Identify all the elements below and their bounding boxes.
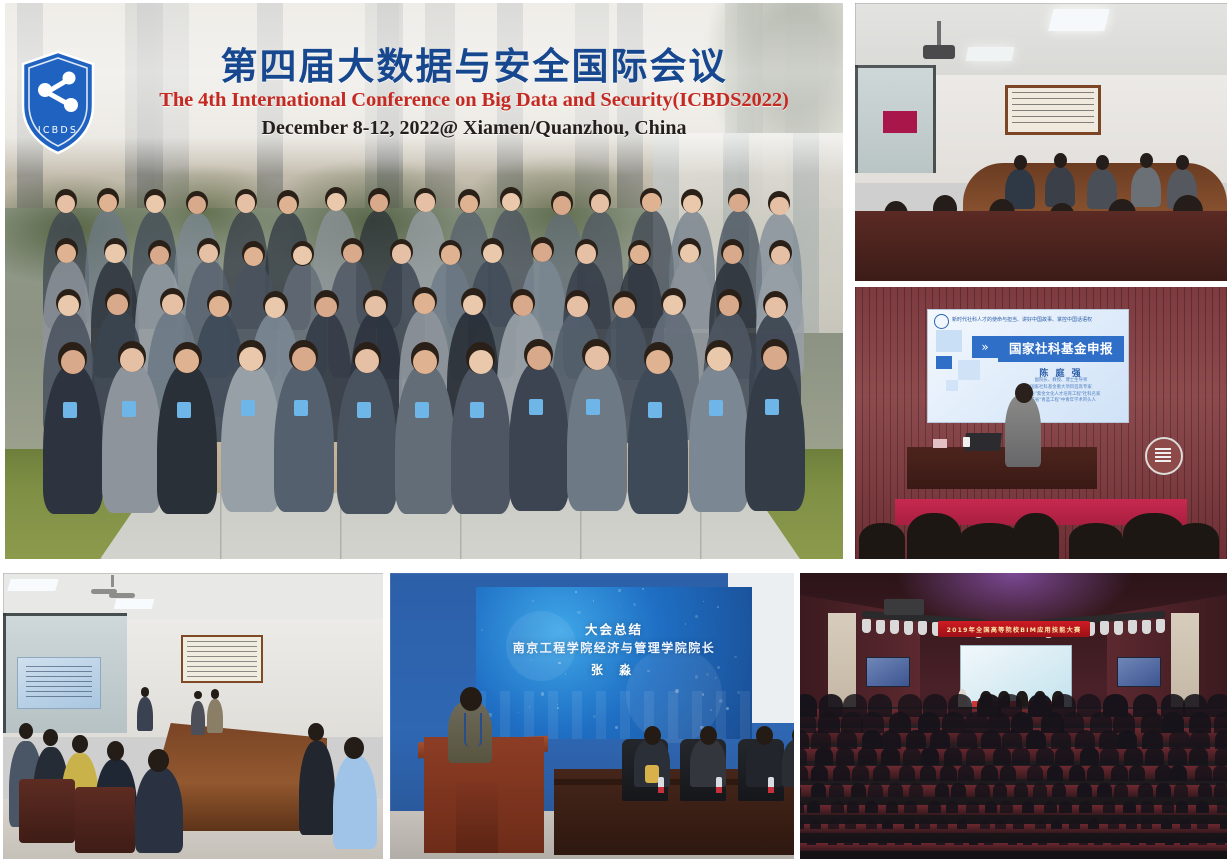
photo-chair-row — [855, 211, 1227, 281]
photo-podium-column — [456, 783, 498, 853]
photo-projector-screen — [17, 657, 101, 709]
auditorium-banner: 2019年全国高等院校BIM应用技能大赛 — [938, 621, 1090, 637]
slide-line-1: 大会总结 — [476, 619, 752, 638]
photo-ceiling-light — [7, 579, 58, 591]
slide-university-emblem-icon — [934, 314, 949, 329]
logo-text: ICBDS — [38, 125, 78, 136]
photo-calligraphy-scroll — [181, 635, 263, 683]
photo-speaker-head — [1015, 383, 1033, 403]
photo-podium-emblem-icon — [1145, 437, 1183, 475]
slide-title: 国家社科基金申报 — [998, 336, 1124, 362]
photo-projector — [884, 599, 924, 615]
photo-small-screen — [883, 111, 917, 133]
banner-title-english: The 4th International Conference on Big … — [115, 89, 833, 112]
lecture-hall-photo[interactable]: 新时代社科人才的使命与担当、讲好中国故事、掌控中国话语权 » 国家社科基金申报 … — [855, 287, 1227, 559]
slide-chevron-icon: » — [972, 336, 998, 358]
photo-led-screen: 大会总结 南京工程学院经济与管理学院院长 张 淼 — [476, 587, 752, 739]
photo-ceiling-light — [1048, 9, 1109, 31]
conference-banner: ICBDS 第四届大数据与安全国际会议 The 4th Internationa… — [5, 3, 843, 175]
photo-side-screen — [1117, 657, 1161, 687]
photo-speaker-body — [1005, 395, 1041, 467]
photo-speaker-lanyard — [464, 713, 482, 747]
photo-lecture-desk — [907, 447, 1097, 489]
large-auditorium-photo[interactable]: 2019年全国高等院校BIM应用技能大赛 — [800, 573, 1227, 859]
photo-name-plate — [933, 439, 947, 448]
slide-line-2: 南京工程学院经济与管理学院院长 — [476, 639, 752, 656]
photo-projector — [923, 45, 955, 59]
photo-audience — [855, 507, 1227, 559]
photo-ceiling-light — [966, 47, 1015, 61]
auditorium-banner-text: 2019年全国高等院校BIM应用技能大赛 — [947, 625, 1082, 634]
meeting-room-photo[interactable] — [3, 573, 383, 859]
photo-speaker-head — [460, 687, 482, 711]
photo-side-screen — [866, 657, 910, 687]
banner-title-chinese: 第四届大数据与安全国际会议 — [115, 47, 833, 86]
podium-speech-photo[interactable]: 大会总结 南京工程学院经济与管理学院院长 张 淼 — [390, 573, 794, 859]
conference-group-photo[interactable]: ICBDS 第四届大数据与安全国际会议 The 4th Internationa… — [5, 3, 843, 559]
slide-line-3: 张 淼 — [476, 661, 752, 678]
photo-ceiling-fan — [91, 583, 135, 599]
slide-header-line: 新时代社科人才的使命与担当、讲好中国故事、掌控中国话语权 — [952, 316, 1124, 324]
photo-calligraphy-scroll — [1005, 85, 1101, 135]
seminar-room-photo[interactable] — [855, 3, 1227, 281]
photo-cup — [963, 437, 970, 447]
banner-date-location: December 8-12, 2022@ Xiamen/Quanzhou, Ch… — [115, 117, 833, 139]
icbds-shield-logo: ICBDS — [19, 50, 97, 155]
banner-text-block: 第四届大数据与安全国际会议 The 4th International Conf… — [115, 47, 833, 139]
photo-ceiling-light — [114, 599, 154, 609]
photo-collage: ICBDS 第四届大数据与安全国际会议 The 4th Internationa… — [0, 0, 1230, 862]
